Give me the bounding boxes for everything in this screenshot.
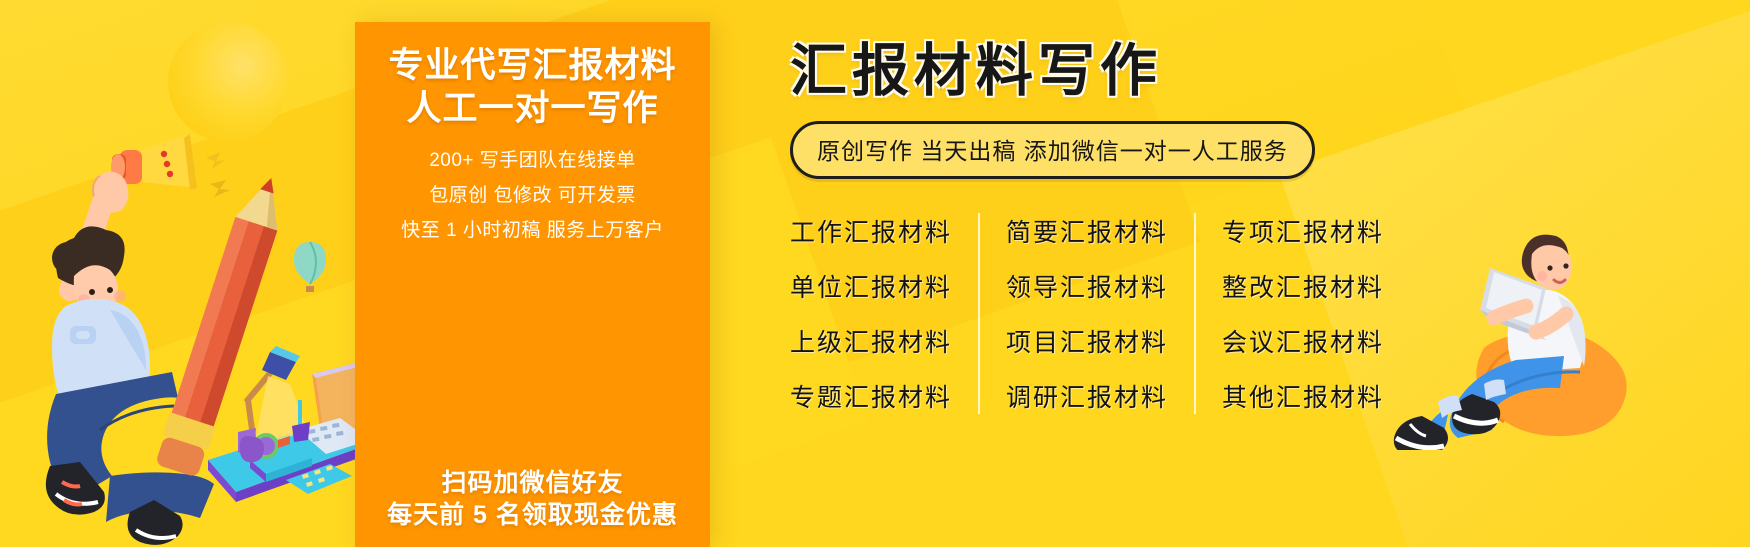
keyword-column-2: 简要汇报材料 领导汇报材料 项目汇报材料 调研汇报材料: [978, 213, 1194, 414]
keyword-item[interactable]: 其他汇报材料: [1222, 378, 1384, 414]
keyword-item[interactable]: 会议汇报材料: [1222, 323, 1384, 359]
keyword-item[interactable]: 专题汇报材料: [790, 378, 952, 414]
right-illustration: [1380, 210, 1640, 450]
keyword-item[interactable]: 上级汇报材料: [790, 323, 952, 359]
keyword-item[interactable]: 单位汇报材料: [790, 268, 952, 304]
card-headline-line2: 人工一对一写作: [355, 87, 710, 130]
keyword-column-3: 专项汇报材料 整改汇报材料 会议汇报材料 其他汇报材料: [1194, 213, 1410, 414]
card-headline-line1: 专业代写汇报材料: [355, 44, 710, 87]
card-footer-line2: 每天前 5 名领取现金优惠: [355, 499, 710, 531]
orange-promo-card: 专业代写汇报材料 人工一对一写作 200+ 写手团队在线接单 包原创 包修改 可…: [355, 22, 710, 547]
card-sub-line1: 200+ 写手团队在线接单: [355, 143, 710, 178]
keyword-grid: 工作汇报材料 单位汇报材料 上级汇报材料 专题汇报材料 简要汇报材料 领导汇报材…: [790, 213, 1430, 414]
keyword-column-1: 工作汇报材料 单位汇报材料 上级汇报材料 专题汇报材料: [790, 213, 978, 414]
keyword-item[interactable]: 项目汇报材料: [1006, 323, 1168, 359]
right-content: 汇报材料写作 原创写作 当天出稿 添加微信一对一人工服务 工作汇报材料 单位汇报…: [790, 40, 1430, 414]
keyword-item[interactable]: 领导汇报材料: [1006, 268, 1168, 304]
keyword-item[interactable]: 调研汇报材料: [1006, 378, 1168, 414]
service-pill: 原创写作 当天出稿 添加微信一对一人工服务: [790, 121, 1315, 179]
sun-icon: [168, 22, 288, 142]
keyword-item[interactable]: 整改汇报材料: [1222, 268, 1384, 304]
keyword-item[interactable]: 简要汇报材料: [1006, 213, 1168, 249]
left-illustration: [40, 130, 370, 547]
card-footer-line1: 扫码加微信好友: [355, 467, 710, 499]
main-headline: 汇报材料写作: [790, 40, 1430, 103]
keyword-item[interactable]: 工作汇报材料: [790, 213, 952, 249]
card-sub-line2: 包原创 包修改 可开发票: [355, 178, 710, 213]
promo-banner: 专业代写汇报材料 人工一对一写作 200+ 写手团队在线接单 包原创 包修改 可…: [0, 0, 1750, 547]
card-sub-line3: 快至 1 小时初稿 服务上万客户: [355, 213, 710, 248]
keyword-item[interactable]: 专项汇报材料: [1222, 213, 1384, 249]
